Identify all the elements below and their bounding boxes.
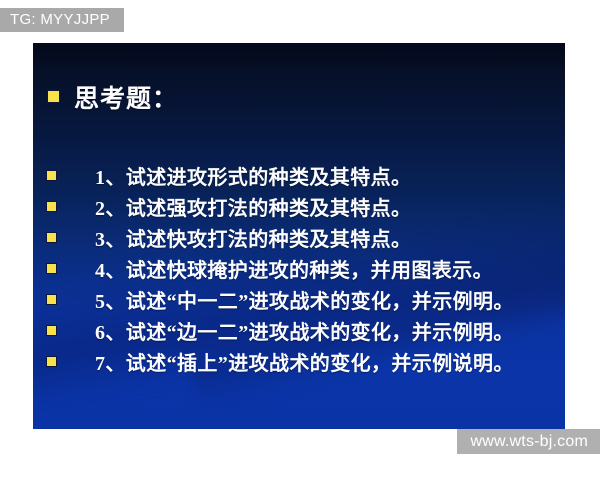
square-bullet-icon [46,356,57,367]
site-watermark: www.wts-bj.com [457,429,600,454]
square-bullet-icon [46,325,57,336]
square-bullet-icon [46,263,57,274]
list-item: 3、试述快攻打法的种类及其特点。 [46,223,411,252]
list-item-label: 3、试述快攻打法的种类及其特点。 [95,223,411,252]
slide-viewer: { "tag": { "label": "TG: MYYJJPP", "back… [0,0,600,480]
list-item: 1、试述进攻形式的种类及其特点。 [46,161,411,190]
list-item-label: 2、试述强攻打法的种类及其特点。 [95,192,411,221]
tg-tag-label: TG: MYYJJPP [0,8,124,32]
list-item: 7、试述“插上”进攻战术的变化，并示例说明。 [46,347,514,376]
square-bullet-icon [46,170,57,181]
square-bullet-icon [46,232,57,243]
list-item-label: 4、试述快球掩护进攻的种类，并用图表示。 [95,254,493,283]
list-item-label: 5、试述“中一二”进攻战术的变化，并示例明。 [95,285,514,314]
square-bullet-icon [46,201,57,212]
list-item-label: 1、试述进攻形式的种类及其特点。 [95,161,411,190]
presentation-slide: 思考题： 1、试述进攻形式的种类及其特点。 2、试述强攻打法的种类及其特点。 3… [33,43,565,429]
list-item-label: 7、试述“插上”进攻战术的变化，并示例说明。 [95,347,514,376]
list-item: 2、试述强攻打法的种类及其特点。 [46,192,411,221]
list-item: 4、试述快球掩护进攻的种类，并用图表示。 [46,254,493,283]
page-title: 思考题： [74,79,178,115]
list-item: 5、试述“中一二”进攻战术的变化，并示例明。 [46,285,514,314]
list-item-label: 6、试述“边一二”进攻战术的变化，并示例明。 [95,316,514,345]
square-bullet-icon [47,90,60,103]
slide-title-row: 思考题： [47,79,178,115]
square-bullet-icon [46,294,57,305]
list-item: 6、试述“边一二”进攻战术的变化，并示例明。 [46,316,514,345]
